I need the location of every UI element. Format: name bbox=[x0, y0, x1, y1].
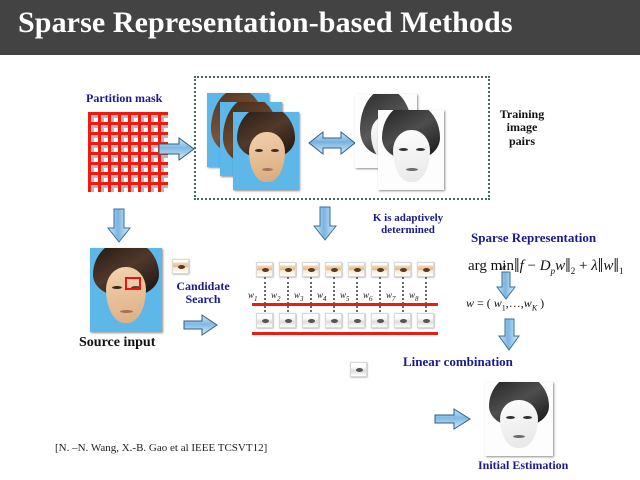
patch-connector-2 bbox=[287, 277, 289, 316]
linear-combination-label: Linear combination bbox=[403, 355, 513, 370]
candidate-patch-sketch-6 bbox=[371, 313, 388, 328]
arrow-right-icon bbox=[157, 135, 197, 163]
weight-label-2: w2 bbox=[271, 290, 281, 303]
training-label-line1: Training bbox=[486, 108, 558, 121]
arrow-left-right-icon bbox=[308, 128, 356, 158]
candidate-patch-photo-2 bbox=[279, 262, 296, 277]
formula-plus: + bbox=[575, 258, 591, 274]
sparse-representation-label: Sparse Representation bbox=[471, 231, 596, 246]
candidate-patch-sketch-8 bbox=[417, 313, 434, 328]
weight-label-3: w3 bbox=[294, 290, 304, 303]
initial-estimation-image bbox=[485, 382, 553, 456]
candidate-patch-photo-4 bbox=[325, 262, 342, 277]
training-label-line3: pairs bbox=[486, 135, 558, 148]
combined-result-patch bbox=[350, 362, 367, 377]
weight-label-5: w5 bbox=[340, 290, 350, 303]
source-input-image bbox=[90, 248, 162, 332]
k-adaptive-line1: K is adaptively bbox=[348, 212, 468, 224]
weight-label-1: w1 bbox=[248, 290, 258, 303]
objective-formula: arg minw‖f − Dpw‖2 + λ‖w‖1 bbox=[468, 255, 623, 278]
candidate-query-patch bbox=[172, 259, 189, 274]
weight-label-7: w7 bbox=[386, 290, 396, 303]
red-separator-top bbox=[252, 303, 438, 306]
source-input-label: Source input bbox=[79, 335, 155, 351]
w-vector-rparen: ) bbox=[537, 296, 544, 310]
red-separator-bottom bbox=[252, 332, 438, 335]
partition-mask-label: Partition mask bbox=[86, 92, 162, 105]
weight-label-4: w4 bbox=[317, 290, 327, 303]
candidate-patch-sketch-1 bbox=[256, 313, 273, 328]
w-vector-dots: ,…, bbox=[506, 296, 524, 310]
partition-mask-grid bbox=[88, 112, 168, 192]
patch-connector-7 bbox=[402, 277, 404, 316]
candidate-patch-sketch-4 bbox=[325, 313, 342, 328]
patch-connector-6 bbox=[379, 277, 381, 316]
weight-label-6: w6 bbox=[363, 290, 373, 303]
initial-estimation-label: Initial Estimation bbox=[478, 459, 568, 472]
patch-connector-3 bbox=[310, 277, 312, 316]
candidate-patch-sketch-5 bbox=[348, 313, 365, 328]
weight-label-8: w8 bbox=[409, 290, 419, 303]
training-label-line2: image bbox=[486, 121, 558, 134]
candidate-patch-sketch-7 bbox=[394, 313, 411, 328]
k-adaptive-label: K is adaptively determined bbox=[348, 212, 468, 237]
page-title: Sparse Representation-based Methods bbox=[18, 6, 513, 40]
training-sketch-front bbox=[378, 110, 444, 190]
training-photo-front bbox=[233, 112, 299, 190]
candidate-patch-sketch-2 bbox=[279, 313, 296, 328]
arrow-down-icon-k bbox=[312, 206, 338, 242]
formula-norm1-sub: 1 bbox=[619, 266, 624, 276]
citation: [N. –N. Wang, X.-B. Gao et al IEEE TCSVT… bbox=[55, 442, 267, 454]
formula-w: w bbox=[555, 258, 565, 274]
training-image-pairs-label: Training image pairs bbox=[486, 108, 558, 148]
candidate-patch-sketch-3 bbox=[302, 313, 319, 328]
formula-D: D bbox=[540, 258, 551, 274]
arrow-down-icon-source bbox=[106, 208, 132, 244]
candidate-search-label: Candidate Search bbox=[168, 280, 238, 307]
formula-w2: w bbox=[603, 258, 613, 274]
candidate-patch-photo-3 bbox=[302, 262, 319, 277]
w-vector-eq: = ( bbox=[474, 296, 494, 310]
w-vector-w1: w bbox=[494, 296, 502, 310]
candidate-patch-photo-6 bbox=[371, 262, 388, 277]
candidate-search-line1: Candidate bbox=[168, 280, 238, 293]
formula-minus: − bbox=[524, 258, 540, 274]
candidate-patch-photo-5 bbox=[348, 262, 365, 277]
arrow-right-icon-candidate bbox=[182, 313, 220, 337]
source-patch-marker bbox=[125, 277, 141, 290]
k-adaptive-line2: determined bbox=[348, 224, 468, 236]
w-vector-formula: w = ( w1,…,wK ) bbox=[466, 296, 544, 312]
candidate-patch-photo-8 bbox=[417, 262, 434, 277]
w-vector-lhs: w bbox=[466, 296, 474, 310]
candidate-patch-photo-7 bbox=[394, 262, 411, 277]
w-vector-wk: w bbox=[524, 296, 532, 310]
candidate-search-line2: Search bbox=[168, 293, 238, 306]
patch-connector-8 bbox=[425, 277, 427, 316]
arrow-right-icon-final bbox=[433, 406, 473, 432]
patch-connector-1 bbox=[264, 277, 266, 316]
patch-connector-5 bbox=[356, 277, 358, 316]
arrow-down-icon-linear bbox=[497, 318, 521, 352]
patch-connector-4 bbox=[333, 277, 335, 316]
candidate-patch-photo-1 bbox=[256, 262, 273, 277]
